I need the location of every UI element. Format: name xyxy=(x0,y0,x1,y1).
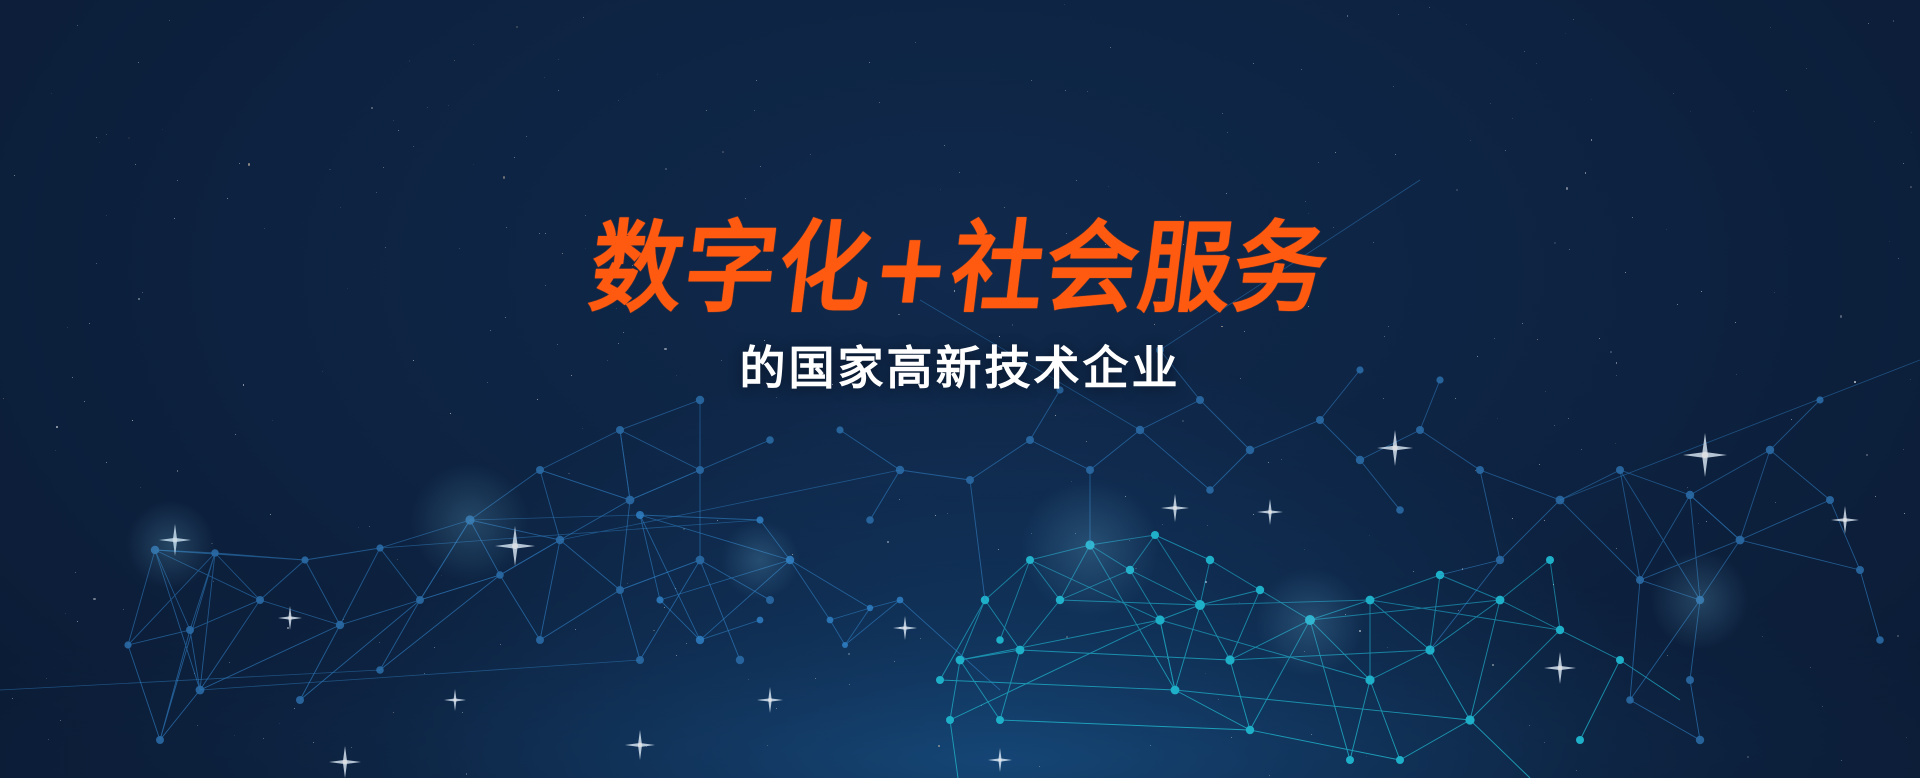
star-dot xyxy=(473,164,474,165)
star-dot xyxy=(1536,63,1537,64)
star-dot xyxy=(1253,514,1254,515)
star-dot xyxy=(776,397,778,399)
star-dot xyxy=(93,598,95,600)
star-dot xyxy=(1874,121,1875,122)
star-dot xyxy=(1183,244,1184,245)
star-dot xyxy=(1625,272,1626,273)
star-dot xyxy=(263,738,264,739)
star-dot xyxy=(1369,535,1370,536)
star-dot xyxy=(75,572,76,573)
star-dot xyxy=(1666,229,1667,230)
star-dot xyxy=(1581,449,1582,450)
star-dot xyxy=(1226,193,1227,194)
star-dot xyxy=(516,26,518,28)
star-dot xyxy=(557,344,559,346)
star-dot xyxy=(1004,207,1005,208)
star-dot xyxy=(3,398,4,399)
star-dot xyxy=(514,157,515,158)
star-dot xyxy=(434,647,435,648)
star-dot xyxy=(1898,258,1899,259)
star-dot xyxy=(1182,420,1184,422)
star-dot xyxy=(466,773,468,775)
star-dot xyxy=(575,629,576,630)
star-dot xyxy=(960,371,961,372)
star-dot xyxy=(427,107,428,108)
star-dot xyxy=(96,263,97,264)
star-dot xyxy=(999,336,1000,337)
star-dot xyxy=(235,434,236,435)
star-dot xyxy=(322,371,323,372)
star-dot xyxy=(1167,658,1168,659)
star-dot xyxy=(1066,636,1068,638)
star-dot xyxy=(448,105,449,106)
sparkle-star xyxy=(988,748,1012,772)
star-dot xyxy=(1205,673,1206,674)
star-dot xyxy=(1335,152,1336,153)
star-dot xyxy=(526,136,527,137)
star-dot xyxy=(664,607,666,609)
star-dot xyxy=(1591,99,1592,100)
star-dot xyxy=(1311,734,1312,735)
star-dot xyxy=(1055,415,1056,416)
star-dot xyxy=(1179,330,1180,331)
sparkle-star xyxy=(1377,430,1413,466)
sparkle-star xyxy=(1683,433,1727,477)
star-dot xyxy=(1333,227,1334,228)
star-dot xyxy=(142,292,143,293)
star-dot xyxy=(1537,339,1538,340)
star-dot xyxy=(1384,336,1385,337)
star-dot xyxy=(1566,187,1568,189)
star-dot xyxy=(1108,186,1110,188)
star-dot xyxy=(424,673,426,675)
star-dot xyxy=(1554,242,1556,244)
star-dot xyxy=(1253,63,1254,64)
star-dot xyxy=(1455,398,1456,399)
star-dot xyxy=(657,74,658,75)
star-dot xyxy=(1904,513,1905,514)
star-dot xyxy=(675,588,676,589)
star-dot xyxy=(379,642,380,643)
star-dot xyxy=(248,163,250,165)
star-dot xyxy=(67,327,68,328)
star-dot xyxy=(1240,378,1241,379)
star-dot xyxy=(1616,362,1618,364)
star-dot xyxy=(1569,249,1570,250)
star-dot xyxy=(544,77,545,78)
star-dot xyxy=(537,399,538,400)
star-dot xyxy=(892,380,894,382)
star-dot xyxy=(1545,391,1546,392)
star-dot xyxy=(51,93,53,95)
star-dot xyxy=(1105,244,1106,245)
star-dot xyxy=(571,375,572,376)
star-dot xyxy=(1529,725,1530,726)
star-dot xyxy=(1565,33,1566,34)
star-dot xyxy=(1903,449,1904,450)
star-dot xyxy=(347,288,348,289)
star-dot xyxy=(959,172,960,173)
star-dot xyxy=(48,739,49,740)
star-dot xyxy=(229,662,230,663)
star-dot xyxy=(879,102,880,103)
star-dot xyxy=(329,169,331,171)
star-dot xyxy=(1573,19,1574,20)
star-dot xyxy=(1207,525,1208,526)
sparkle-star xyxy=(893,616,917,640)
star-dot xyxy=(1087,91,1088,92)
star-dot xyxy=(1599,338,1600,339)
star-dot xyxy=(1910,379,1911,380)
star-dot xyxy=(1221,326,1223,328)
star-dot xyxy=(655,275,656,276)
star-dot xyxy=(1470,140,1471,141)
sparkle-star xyxy=(444,689,466,711)
star-dot xyxy=(84,401,85,402)
sparkle-star xyxy=(1161,494,1189,522)
star-dot xyxy=(1544,742,1545,743)
star-dot xyxy=(1244,331,1245,332)
star-dot xyxy=(1162,524,1163,525)
star-dot xyxy=(123,609,124,610)
star-dot xyxy=(585,215,586,216)
star-dot xyxy=(369,526,370,527)
star-dot xyxy=(945,357,946,358)
star-dot xyxy=(1512,518,1513,519)
node-glow xyxy=(1255,567,1365,677)
star-dot xyxy=(272,420,273,421)
star-dot xyxy=(539,233,540,234)
star-dot xyxy=(1076,180,1077,181)
node-glow xyxy=(125,500,215,590)
star-dot xyxy=(450,413,451,414)
star-dot xyxy=(894,661,895,662)
star-dot xyxy=(627,583,628,584)
star-dot xyxy=(1239,602,1240,603)
star-dot xyxy=(371,107,373,109)
star-dot xyxy=(632,265,634,267)
star-dot xyxy=(1554,425,1555,426)
star-dot xyxy=(1462,568,1464,570)
star-dot xyxy=(848,653,850,655)
star-dot xyxy=(500,644,501,645)
star-dot xyxy=(920,638,921,639)
star-dot xyxy=(686,643,687,644)
star-dot xyxy=(1150,745,1151,746)
star-dot xyxy=(99,142,100,143)
star-dot xyxy=(1231,737,1232,738)
star-dot xyxy=(1366,756,1367,757)
star-dot xyxy=(1227,132,1228,133)
star-dot xyxy=(1786,90,1787,91)
star-dot xyxy=(1466,24,1467,25)
star-dot xyxy=(1841,760,1842,761)
star-dot xyxy=(409,60,411,62)
star-dot xyxy=(135,164,136,165)
star-dot xyxy=(545,285,546,286)
star-dot xyxy=(454,60,455,61)
star-dot xyxy=(1893,20,1895,22)
star-dot xyxy=(954,290,956,292)
star-dot xyxy=(676,375,677,376)
star-dot xyxy=(717,520,718,521)
star-dot xyxy=(279,723,280,724)
starfield-background xyxy=(0,0,1920,778)
star-dot xyxy=(1544,520,1545,521)
star-dot xyxy=(618,100,619,101)
star-dot xyxy=(270,514,271,515)
star-dot xyxy=(89,323,91,325)
star-dot xyxy=(558,90,559,91)
star-dot xyxy=(722,151,724,153)
star-dot xyxy=(887,541,889,543)
star-dot xyxy=(898,314,900,316)
star-dot xyxy=(1429,7,1430,8)
star-dot xyxy=(1735,322,1736,323)
star-dot xyxy=(1753,111,1754,112)
star-dot xyxy=(1194,258,1195,259)
star-dot xyxy=(944,145,945,146)
star-dot xyxy=(815,678,816,679)
star-dot xyxy=(1889,241,1890,242)
star-dot xyxy=(227,198,228,199)
star-dot xyxy=(12,698,13,699)
star-dot xyxy=(1701,291,1702,292)
star-dot xyxy=(462,712,463,713)
star-dot xyxy=(582,428,583,429)
star-dot xyxy=(767,745,768,746)
star-dot xyxy=(1308,213,1309,214)
star-dot xyxy=(998,549,999,550)
star-dot xyxy=(568,473,570,475)
star-dot xyxy=(1897,635,1899,637)
star-dot xyxy=(1387,647,1388,648)
star-dot xyxy=(1840,315,1842,317)
star-dot xyxy=(1522,323,1523,324)
star-dot xyxy=(1477,356,1478,357)
star-dot xyxy=(1747,756,1749,758)
node-glow xyxy=(1650,550,1750,650)
star-dot xyxy=(177,180,178,181)
star-dot xyxy=(77,25,78,26)
star-dot xyxy=(1810,667,1811,668)
star-dot xyxy=(558,59,559,60)
star-dot xyxy=(413,146,414,147)
star-dot xyxy=(174,218,175,219)
star-dot xyxy=(60,720,61,721)
star-dot xyxy=(1677,304,1678,305)
star-dot xyxy=(862,293,863,294)
star-dot xyxy=(665,168,667,170)
star-dot xyxy=(1301,69,1302,70)
star-dot xyxy=(1413,571,1414,572)
star-dot xyxy=(46,678,47,679)
star-dot xyxy=(1475,470,1476,471)
star-dot xyxy=(1305,201,1306,202)
star-dot xyxy=(706,110,707,111)
star-dot xyxy=(1806,68,1807,69)
star-dot xyxy=(383,167,384,168)
star-dot xyxy=(234,735,235,736)
star-dot xyxy=(1205,581,1207,583)
star-dot xyxy=(1158,297,1159,298)
star-dot xyxy=(1492,664,1494,666)
star-dot xyxy=(138,298,140,300)
star-dot xyxy=(138,62,139,63)
star-dot xyxy=(1512,118,1513,119)
star-dot xyxy=(397,559,398,560)
star-dot xyxy=(1064,4,1065,5)
star-dot xyxy=(1383,398,1384,399)
star-dot xyxy=(1154,324,1156,326)
star-dot xyxy=(398,130,399,131)
star-dot xyxy=(65,613,66,614)
star-dot xyxy=(1762,636,1763,637)
star-dot xyxy=(213,581,214,582)
star-dot xyxy=(1031,80,1032,81)
star-dot xyxy=(583,17,584,18)
star-dot xyxy=(1467,622,1469,624)
star-dot xyxy=(1308,306,1309,307)
star-dot xyxy=(128,137,130,139)
star-dot xyxy=(611,228,612,229)
star-dot xyxy=(239,163,240,164)
sparkle-star xyxy=(757,687,783,713)
star-dot xyxy=(938,745,940,747)
star-dot xyxy=(623,332,624,333)
star-dot xyxy=(1687,487,1689,489)
star-dot xyxy=(1822,706,1823,707)
star-dot xyxy=(162,129,163,130)
star-dot xyxy=(106,215,107,216)
star-dot xyxy=(393,120,394,121)
star-dot xyxy=(981,705,982,706)
star-dot xyxy=(1373,242,1375,244)
star-dot xyxy=(1269,775,1270,776)
star-dot xyxy=(1268,462,1269,463)
star-dot xyxy=(618,343,619,344)
star-dot xyxy=(264,228,266,230)
star-dot xyxy=(899,499,900,500)
star-dot xyxy=(14,175,15,176)
star-dot xyxy=(1395,154,1396,155)
star-dot xyxy=(459,248,460,249)
star-dot xyxy=(1910,186,1912,188)
star-dot xyxy=(313,742,314,743)
star-dot xyxy=(1775,502,1776,503)
star-dot xyxy=(194,673,195,674)
star-dot xyxy=(243,384,245,386)
star-dot xyxy=(1690,111,1691,112)
star-dot xyxy=(1616,548,1617,549)
star-dot xyxy=(562,253,563,254)
star-dot xyxy=(607,360,608,361)
star-dot xyxy=(294,708,295,709)
star-dot xyxy=(1736,374,1737,375)
star-dot xyxy=(1180,216,1181,217)
star-dot xyxy=(1539,464,1540,465)
star-dot xyxy=(1505,150,1506,151)
star-dot xyxy=(358,527,359,528)
star-dot xyxy=(940,189,941,190)
sparkle-star xyxy=(1831,506,1859,534)
star-dot xyxy=(1347,15,1349,17)
star-dot xyxy=(1667,655,1668,656)
sparkle-star xyxy=(1544,652,1576,684)
star-dot xyxy=(1774,292,1775,293)
star-dot xyxy=(756,80,757,81)
star-dot xyxy=(1497,418,1498,419)
star-dot xyxy=(505,317,506,318)
star-dot xyxy=(869,62,870,63)
star-dot xyxy=(754,110,755,111)
sparkle-star xyxy=(625,730,655,760)
star-dot xyxy=(441,575,442,576)
star-dot xyxy=(376,192,377,193)
star-dot xyxy=(55,450,56,451)
star-dot xyxy=(413,360,414,361)
star-dot xyxy=(490,330,491,331)
star-dot xyxy=(1616,375,1617,376)
star-dot xyxy=(1868,23,1869,24)
star-dot xyxy=(1585,172,1587,174)
node-glow xyxy=(720,520,800,600)
star-dot xyxy=(764,340,766,342)
star-dot xyxy=(1398,14,1399,15)
star-dot xyxy=(721,360,722,361)
star-dot xyxy=(106,462,107,463)
star-dot xyxy=(385,247,386,248)
star-dot xyxy=(1012,324,1014,326)
star-dot xyxy=(140,487,141,488)
star-dot xyxy=(1791,419,1792,420)
star-dot xyxy=(169,20,170,21)
node-glow xyxy=(410,462,530,582)
star-dot xyxy=(1458,610,1459,611)
star-dot xyxy=(1903,163,1904,164)
star-dot xyxy=(1065,90,1066,91)
star-dot xyxy=(1222,113,1223,114)
star-dot xyxy=(1218,699,1219,700)
star-dot xyxy=(1632,217,1633,218)
star-dot xyxy=(487,382,488,383)
star-dot xyxy=(916,275,917,276)
star-dot xyxy=(1494,338,1495,339)
star-dot xyxy=(1393,86,1395,88)
star-dot xyxy=(828,380,829,381)
star-dot xyxy=(77,621,78,622)
star-dot xyxy=(1281,459,1282,460)
star-dot xyxy=(745,198,746,199)
star-dot xyxy=(72,377,73,378)
star-dot xyxy=(177,470,179,472)
star-dot xyxy=(1673,93,1674,94)
star-dot xyxy=(1456,189,1458,191)
star-dot xyxy=(503,176,505,178)
star-dot xyxy=(1524,51,1525,52)
sparkle-star xyxy=(329,746,361,778)
star-dot xyxy=(1854,381,1856,383)
star-dot xyxy=(1304,549,1305,550)
star-dot xyxy=(132,420,133,421)
star-dot xyxy=(1615,443,1616,444)
hero-banner: 数字化+社会服务 的国家高新技术企业 xyxy=(0,0,1920,778)
star-dot xyxy=(1866,454,1868,456)
star-dot xyxy=(849,684,850,685)
star-dot xyxy=(1698,523,1699,524)
star-dot xyxy=(197,725,198,726)
sparkle-star xyxy=(1257,499,1283,525)
